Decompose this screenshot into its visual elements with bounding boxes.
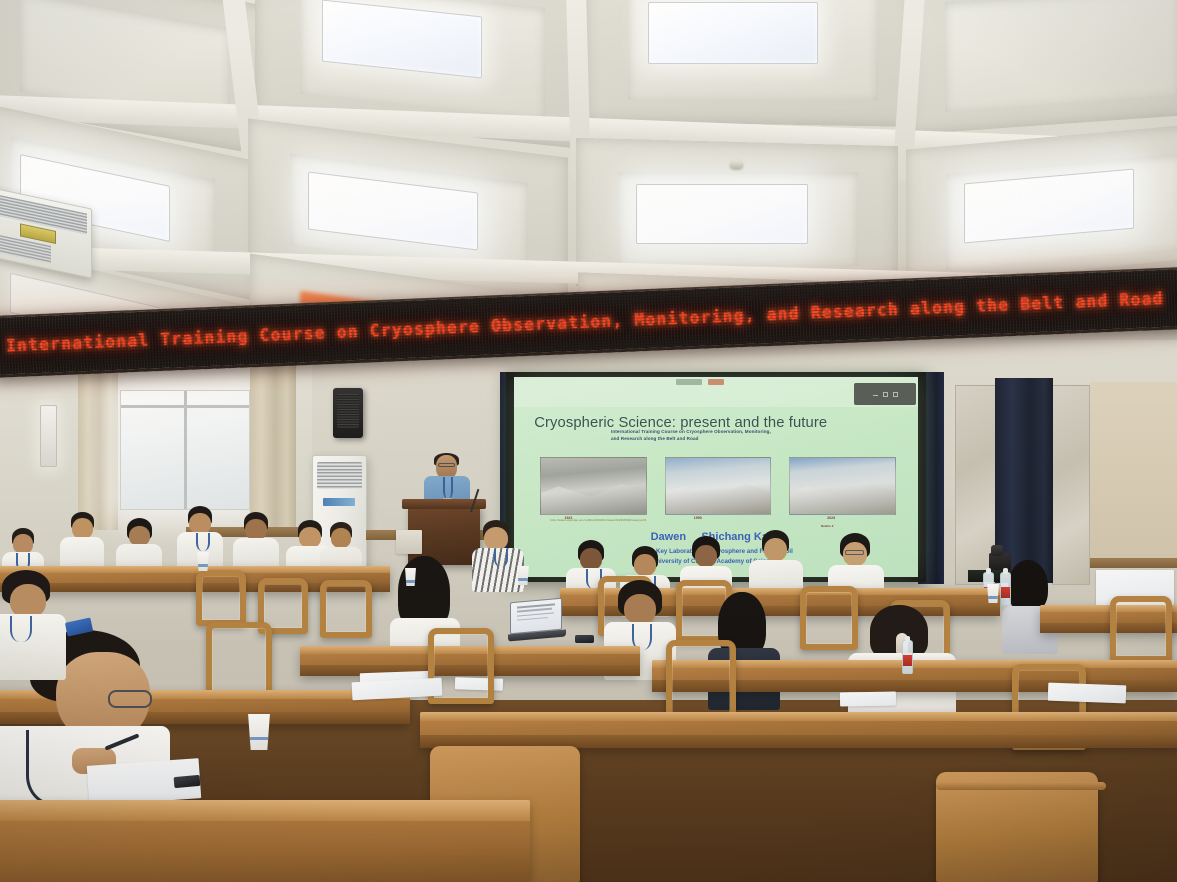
- window-mullion: [184, 391, 187, 509]
- slide-header-line2: and Research along the Belt and Road: [611, 436, 861, 443]
- smartphone[interactable]: [174, 775, 201, 788]
- chair-armrest: [936, 782, 1106, 790]
- attendee-head: [13, 534, 33, 554]
- podium-side-table: [396, 530, 422, 554]
- laptop-document-lines: [517, 612, 554, 617]
- wall-speaker: [333, 388, 363, 438]
- document-papers: [1048, 683, 1127, 704]
- smartphone[interactable]: [575, 635, 594, 643]
- wall-wainscot-trim: [1090, 558, 1177, 568]
- maximize-icon[interactable]: [883, 392, 888, 397]
- chair[interactable]: [666, 640, 736, 722]
- attendee-head: [580, 548, 602, 570]
- attendee-lanyard: [10, 616, 32, 642]
- attendee-glasses-icon: [845, 550, 864, 555]
- attendee-lanyard: [494, 549, 508, 567]
- chair[interactable]: [1110, 596, 1172, 662]
- ppt-toolbar-chip: [676, 379, 702, 385]
- ceiling-light-panel: [636, 184, 808, 244]
- chair[interactable]: [196, 570, 246, 626]
- photo-caption-year: 1950: [694, 516, 702, 520]
- desk-edge: [0, 566, 390, 573]
- glacier-photo-row: [540, 457, 896, 515]
- laptop-screen[interactable]: [510, 598, 562, 635]
- chair-backrest: [206, 622, 272, 698]
- smoke-detector-icon: [730, 160, 743, 169]
- wall-sconce-light: [40, 405, 57, 467]
- stone-wall-panel: [1052, 385, 1090, 585]
- desk-edge: [420, 712, 1177, 721]
- camera-lens-icon: [991, 545, 1003, 556]
- ac-brand-badge: [323, 498, 356, 507]
- slide-source-url: http://www.example.ac.cn/dhtml/2023/xinw…: [550, 518, 646, 522]
- laptop-document-lines: [517, 617, 548, 621]
- attendee-head: [484, 527, 508, 550]
- attendee-glasses-icon: [108, 690, 152, 708]
- attendee-head: [695, 545, 717, 567]
- window: [120, 390, 250, 510]
- ppt-window-controls[interactable]: [854, 383, 916, 405]
- close-icon[interactable]: [893, 392, 898, 397]
- ceiling-light-panel: [648, 2, 818, 64]
- attendee-head: [331, 528, 351, 548]
- chair-backrest: [320, 580, 372, 638]
- desk-edge: [0, 800, 530, 821]
- conference-hall-photo: International Training Course on Cryosph…: [0, 0, 1177, 882]
- minimize-icon[interactable]: [873, 393, 878, 396]
- window-mullion: [121, 405, 249, 408]
- beige-wall-panel: [1090, 382, 1177, 560]
- water-bottle: [902, 640, 913, 674]
- ac-vent-grille: [317, 462, 362, 489]
- ppt-toolbar-chip: [708, 379, 724, 385]
- attendee-head: [764, 538, 787, 561]
- chair-backrest: [666, 640, 736, 722]
- slide-author-prefix: Dawen: [651, 531, 686, 543]
- ceiling-coffer-inner: [945, 0, 1177, 112]
- chair[interactable]: [206, 622, 272, 698]
- water-bottle: [1000, 572, 1011, 606]
- document-papers: [840, 692, 896, 707]
- attendee-head: [10, 584, 46, 618]
- window-curtain-left: [78, 360, 118, 530]
- presenter-lanyard: [443, 477, 453, 499]
- chair-backrest: [1110, 596, 1172, 662]
- desk-row-foreground: [0, 800, 530, 882]
- glacier-photo-1950: [665, 457, 772, 515]
- chair-backrest: [800, 586, 858, 650]
- video-camera: [989, 545, 1011, 573]
- attendee-head: [189, 513, 211, 534]
- window-curtain-right: [250, 360, 296, 535]
- glacier-photo-2023: [789, 457, 896, 515]
- attendee-head: [245, 519, 267, 540]
- chair-backrest: [196, 570, 246, 626]
- photo-sub-caption: Relicts 2: [821, 524, 833, 528]
- attendee-head: [634, 554, 656, 576]
- chair[interactable]: [800, 586, 858, 650]
- presenter-glasses-icon: [438, 463, 455, 467]
- slide-title: Cryospheric Science: present and the fut…: [534, 415, 906, 431]
- desk-row-4-right: [420, 712, 1177, 748]
- attendee-head: [624, 594, 656, 624]
- glacier-photo-1921: [540, 457, 647, 515]
- chair[interactable]: [320, 580, 372, 638]
- attendee-lanyard: [196, 533, 210, 551]
- attendee-head: [72, 518, 93, 539]
- photo-caption-year: 2023: [827, 516, 835, 520]
- attendee-head: [299, 527, 321, 548]
- attendee-head: [129, 526, 150, 546]
